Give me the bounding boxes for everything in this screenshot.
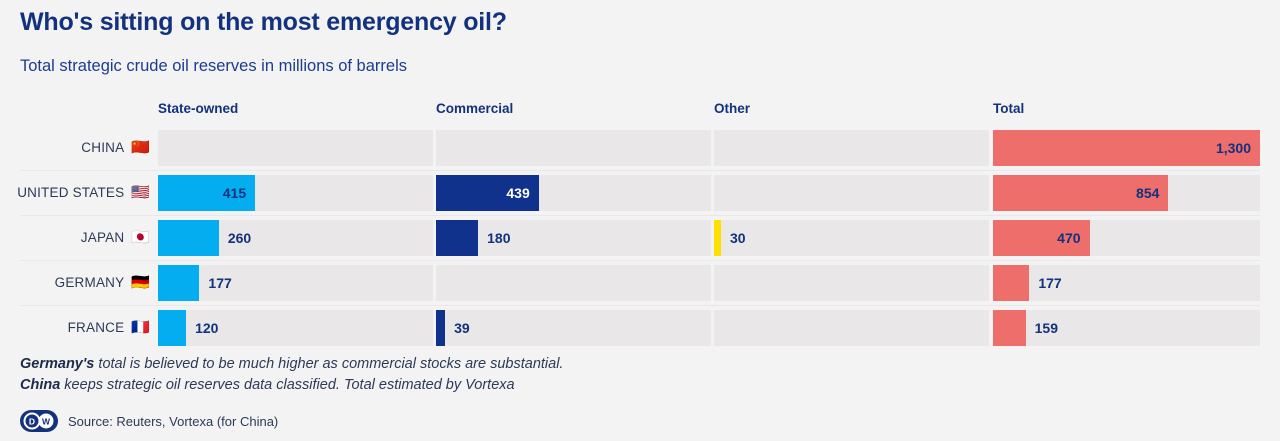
bar-state [158,265,199,301]
bar-total: 1,300 [993,130,1260,166]
column-header-state: State-owned [158,101,238,116]
country-label: GERMANY🇩🇪 [0,260,158,305]
bar-track-state: 177 [158,265,433,301]
row-divider [20,215,1260,216]
bar-value-commercial: 180 [487,220,510,256]
svg-text:W: W [42,417,51,427]
country-name: JAPAN [81,230,125,245]
chart-row: FRANCE🇫🇷12039159 [0,305,1280,350]
bar-chart: CHINA🇨🇳1,300UNITED STATES🇺🇸415439854JAPA… [0,125,1280,350]
flag-icon: 🇺🇸 [131,185,150,200]
bar-value-total: 470 [1057,220,1080,256]
bar-state: 415 [158,175,255,211]
footnote-china: China keeps strategic oil reserves data … [20,375,563,396]
dw-logo-icon: D W [20,410,58,432]
chart-footnotes: Germany's total is believed to be much h… [20,354,563,396]
bar-other [714,220,721,256]
chart-footer: D W Source: Reuters, Vortexa (for China) [20,410,278,432]
country-name: GERMANY [55,275,125,290]
row-divider [20,260,1260,261]
svg-text:D: D [29,417,35,427]
flag-icon: 🇩🇪 [131,275,150,290]
bar-track-total: 177 [993,265,1260,301]
country-name: CHINA [81,140,124,155]
bar-state [158,220,219,256]
footnote-germany-lead: Germany's [20,356,94,372]
country-label: UNITED STATES🇺🇸 [0,170,158,215]
chart-row: CHINA🇨🇳1,300 [0,125,1280,170]
country-label: FRANCE🇫🇷 [0,305,158,350]
footnote-germany: Germany's total is believed to be much h… [20,354,563,375]
bar-total [993,310,1026,346]
bar-value-other: 30 [730,220,746,256]
bar-value-commercial: 39 [454,310,470,346]
bar-value-total: 1,300 [1216,130,1251,166]
bar-track-commercial: 180 [436,220,711,256]
page-subtitle: Total strategic crude oil reserves in mi… [20,57,407,76]
bar-value-state: 177 [208,265,231,301]
bar-track-state: 120 [158,310,433,346]
country-label: JAPAN🇯🇵 [0,215,158,260]
bar-value-state: 120 [195,310,218,346]
bar-total [993,265,1029,301]
chart-row: GERMANY🇩🇪177177 [0,260,1280,305]
country-name: FRANCE [68,320,125,335]
bar-commercial [436,220,478,256]
flag-icon: 🇨🇳 [131,140,150,155]
row-divider [20,305,1260,306]
bar-value-total: 854 [1136,175,1159,211]
bar-track-state: 260 [158,220,433,256]
bar-track-total: 854 [993,175,1260,211]
bar-track-commercial [436,130,711,166]
bar-value-state: 260 [228,220,251,256]
bar-value-state: 415 [223,175,246,211]
column-header-total: Total [993,101,1024,116]
footnote-china-text: keeps strategic oil reserves data classi… [60,377,514,393]
chart-row: UNITED STATES🇺🇸415439854 [0,170,1280,215]
bar-track-state [158,130,433,166]
bar-total: 854 [993,175,1168,211]
page-title: Who's sitting on the most emergency oil? [20,8,507,37]
bar-state [158,310,186,346]
chart-page: Who's sitting on the most emergency oil?… [0,0,1280,441]
bar-value-commercial: 439 [506,175,529,211]
column-header-commercial: Commercial [436,101,513,116]
bar-value-total: 177 [1038,265,1061,301]
bar-track-other [714,130,989,166]
footnote-germany-text: total is believed to be much higher as c… [94,356,563,372]
flag-icon: 🇫🇷 [131,320,150,335]
bar-track-commercial [436,265,711,301]
bar-total: 470 [993,220,1090,256]
bar-track-total: 470 [993,220,1260,256]
bar-commercial [436,310,445,346]
country-name: UNITED STATES [17,185,124,200]
bar-track-other [714,175,989,211]
bar-track-other [714,265,989,301]
bar-value-total: 159 [1035,310,1058,346]
bar-track-other: 30 [714,220,989,256]
column-header-other: Other [714,101,750,116]
country-label: CHINA🇨🇳 [0,125,158,170]
bar-track-other [714,310,989,346]
bar-track-total: 1,300 [993,130,1260,166]
bar-track-commercial: 39 [436,310,711,346]
footnote-china-lead: China [20,377,60,393]
bar-track-state: 415 [158,175,433,211]
chart-row: JAPAN🇯🇵26018030470 [0,215,1280,260]
flag-icon: 🇯🇵 [131,230,150,245]
bar-track-total: 159 [993,310,1260,346]
source-text: Source: Reuters, Vortexa (for China) [68,414,278,429]
bar-commercial: 439 [436,175,539,211]
row-divider [20,170,1260,171]
bar-track-commercial: 439 [436,175,711,211]
